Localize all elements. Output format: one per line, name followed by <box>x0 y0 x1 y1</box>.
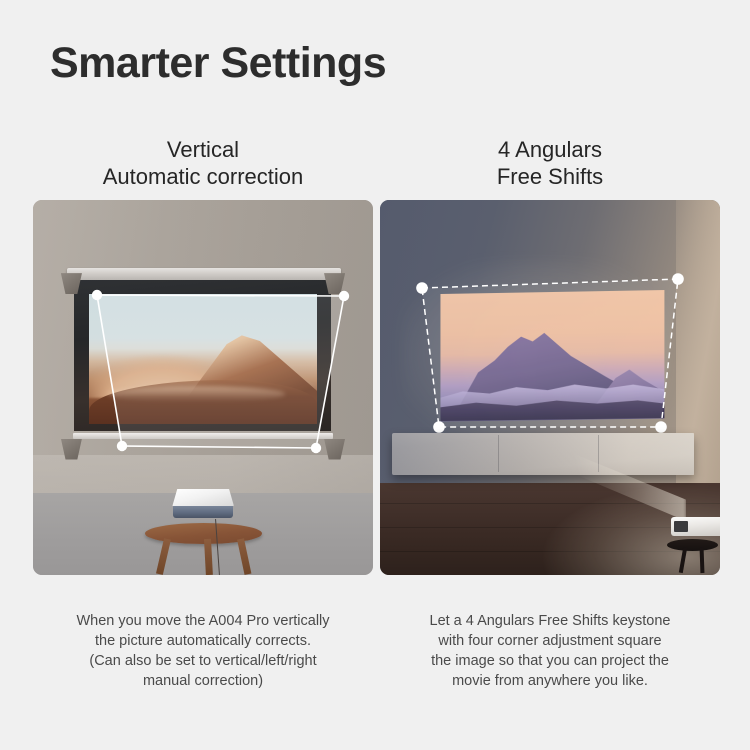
feature-caption-free-shifts: Let a 4 Angulars Free Shifts keystone wi… <box>380 611 720 691</box>
feature-heading-free-shifts: 4 Angulars Free Shifts <box>380 136 720 196</box>
projected-image-desert <box>89 294 317 423</box>
feature-column-vertical-correction: Vertical Automatic correction <box>33 136 373 575</box>
credenza-panel-seam <box>498 435 499 472</box>
projector-stool-leg <box>699 547 704 573</box>
projector-body <box>173 505 233 519</box>
feature-caption-vertical-correction: When you move the A004 Pro vertically th… <box>33 611 373 691</box>
screen-bottom-bar <box>73 433 333 439</box>
feature-image-vertical-correction <box>33 200 373 575</box>
credenza-light-sheen <box>392 433 695 475</box>
projector-shell <box>172 489 234 506</box>
feature-image-free-shifts <box>380 200 720 575</box>
feature-heading-vertical-correction: Vertical Automatic correction <box>33 136 373 196</box>
media-credenza <box>392 433 695 475</box>
feature-column-free-shifts: 4 Angulars Free Shifts <box>380 136 720 575</box>
dune-shape-e <box>107 386 285 402</box>
screen-housing-bar <box>67 268 341 280</box>
projector-lens <box>674 521 688 532</box>
page-title: Smarter Settings <box>50 40 386 87</box>
projected-image-mountains <box>440 290 664 421</box>
side-table-leg-center <box>204 539 213 575</box>
